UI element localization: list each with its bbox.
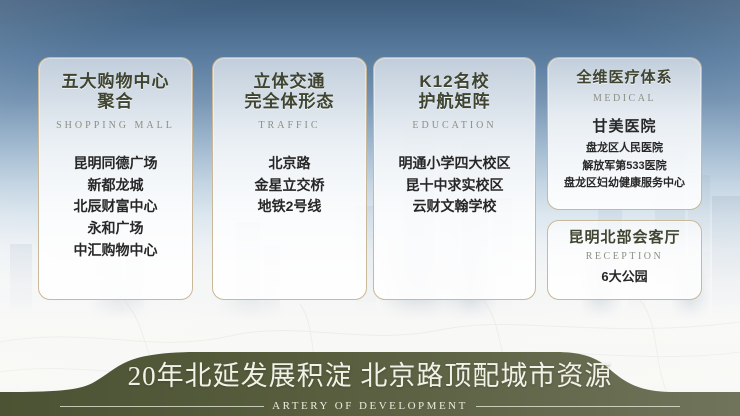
card-title-line2: 聚合 — [39, 92, 192, 112]
card-reception[interactable]: 昆明北部会客厅 RECEPTION 6大公园 — [547, 220, 702, 300]
list-item: 北辰财富中心 — [39, 196, 192, 218]
card-medical[interactable]: 全维医疗体系 MEDICAL 甘美医院 盘龙区人民医院 解放军第533医院 盘龙… — [547, 57, 702, 210]
list-item: 解放军第533医院 — [548, 158, 701, 176]
card-title-line2: 完全体形态 — [213, 92, 366, 112]
card-title-traffic: 立体交通 完全体形态 — [213, 58, 366, 112]
poster-root: 五大购物中心 聚合 SHOPPING MALL 昆明同德广场 新都龙城 北辰财富… — [0, 0, 740, 416]
card-title-line1: 昆明北部会客厅 — [548, 229, 701, 247]
card-subtitle-traffic: TRAFFIC — [213, 112, 366, 131]
list-item: 金星立交桥 — [213, 175, 366, 197]
list-item: 北京路 — [213, 153, 366, 175]
list-item: 6大公园 — [548, 267, 701, 287]
list-item: 地铁2号线 — [213, 196, 366, 218]
card-subtitle-education: EDUCATION — [374, 112, 535, 131]
card-items-shopping-mall: 昆明同德广场 新都龙城 北辰财富中心 永和广场 中汇购物中心 — [39, 131, 192, 261]
bottom-banner — [0, 340, 740, 416]
list-item: 云财文翰学校 — [374, 196, 535, 218]
card-items-traffic: 北京路 金星立交桥 地铁2号线 — [213, 131, 366, 218]
card-title-line1: 全维医疗体系 — [548, 69, 701, 87]
card-title-reception: 昆明北部会客厅 — [548, 221, 701, 247]
card-title-education: K12名校 护航矩阵 — [374, 58, 535, 112]
card-items-medical: 盘龙区人民医院 解放军第533医院 盘龙区妇幼健康服务中心 — [548, 136, 701, 193]
card-shopping-mall[interactable]: 五大购物中心 聚合 SHOPPING MALL 昆明同德广场 新都龙城 北辰财富… — [38, 57, 193, 300]
list-item: 永和广场 — [39, 218, 192, 240]
card-title-line1: 立体交通 — [213, 72, 366, 92]
list-item: 中汇购物中心 — [39, 240, 192, 262]
list-item: 盘龙区妇幼健康服务中心 — [548, 175, 701, 193]
card-items-reception: 6大公园 — [548, 262, 701, 287]
card-title-medical: 全维医疗体系 — [548, 58, 701, 87]
card-subtitle-medical: MEDICAL — [548, 87, 701, 104]
card-title-line2: 护航矩阵 — [374, 92, 535, 112]
card-lead-medical: 甘美医院 — [548, 104, 701, 136]
card-education[interactable]: K12名校 护航矩阵 EDUCATION 明通小学四大校区 昆十中求实校区 云财… — [373, 57, 536, 300]
card-title-line1: 五大购物中心 — [39, 72, 192, 92]
banner-shape — [0, 340, 740, 416]
card-subtitle-reception: RECEPTION — [548, 247, 701, 262]
list-item: 盘龙区人民医院 — [548, 140, 701, 158]
list-item: 新都龙城 — [39, 175, 192, 197]
list-item: 昆十中求实校区 — [374, 175, 535, 197]
card-items-education: 明通小学四大校区 昆十中求实校区 云财文翰学校 — [374, 131, 535, 218]
card-subtitle-shopping-mall: SHOPPING MALL — [39, 112, 192, 131]
card-traffic[interactable]: 立体交通 完全体形态 TRAFFIC 北京路 金星立交桥 地铁2号线 — [212, 57, 367, 300]
card-title-line1: K12名校 — [374, 72, 535, 92]
card-title-shopping-mall: 五大购物中心 聚合 — [39, 58, 192, 112]
list-item: 昆明同德广场 — [39, 153, 192, 175]
list-item: 明通小学四大校区 — [374, 153, 535, 175]
